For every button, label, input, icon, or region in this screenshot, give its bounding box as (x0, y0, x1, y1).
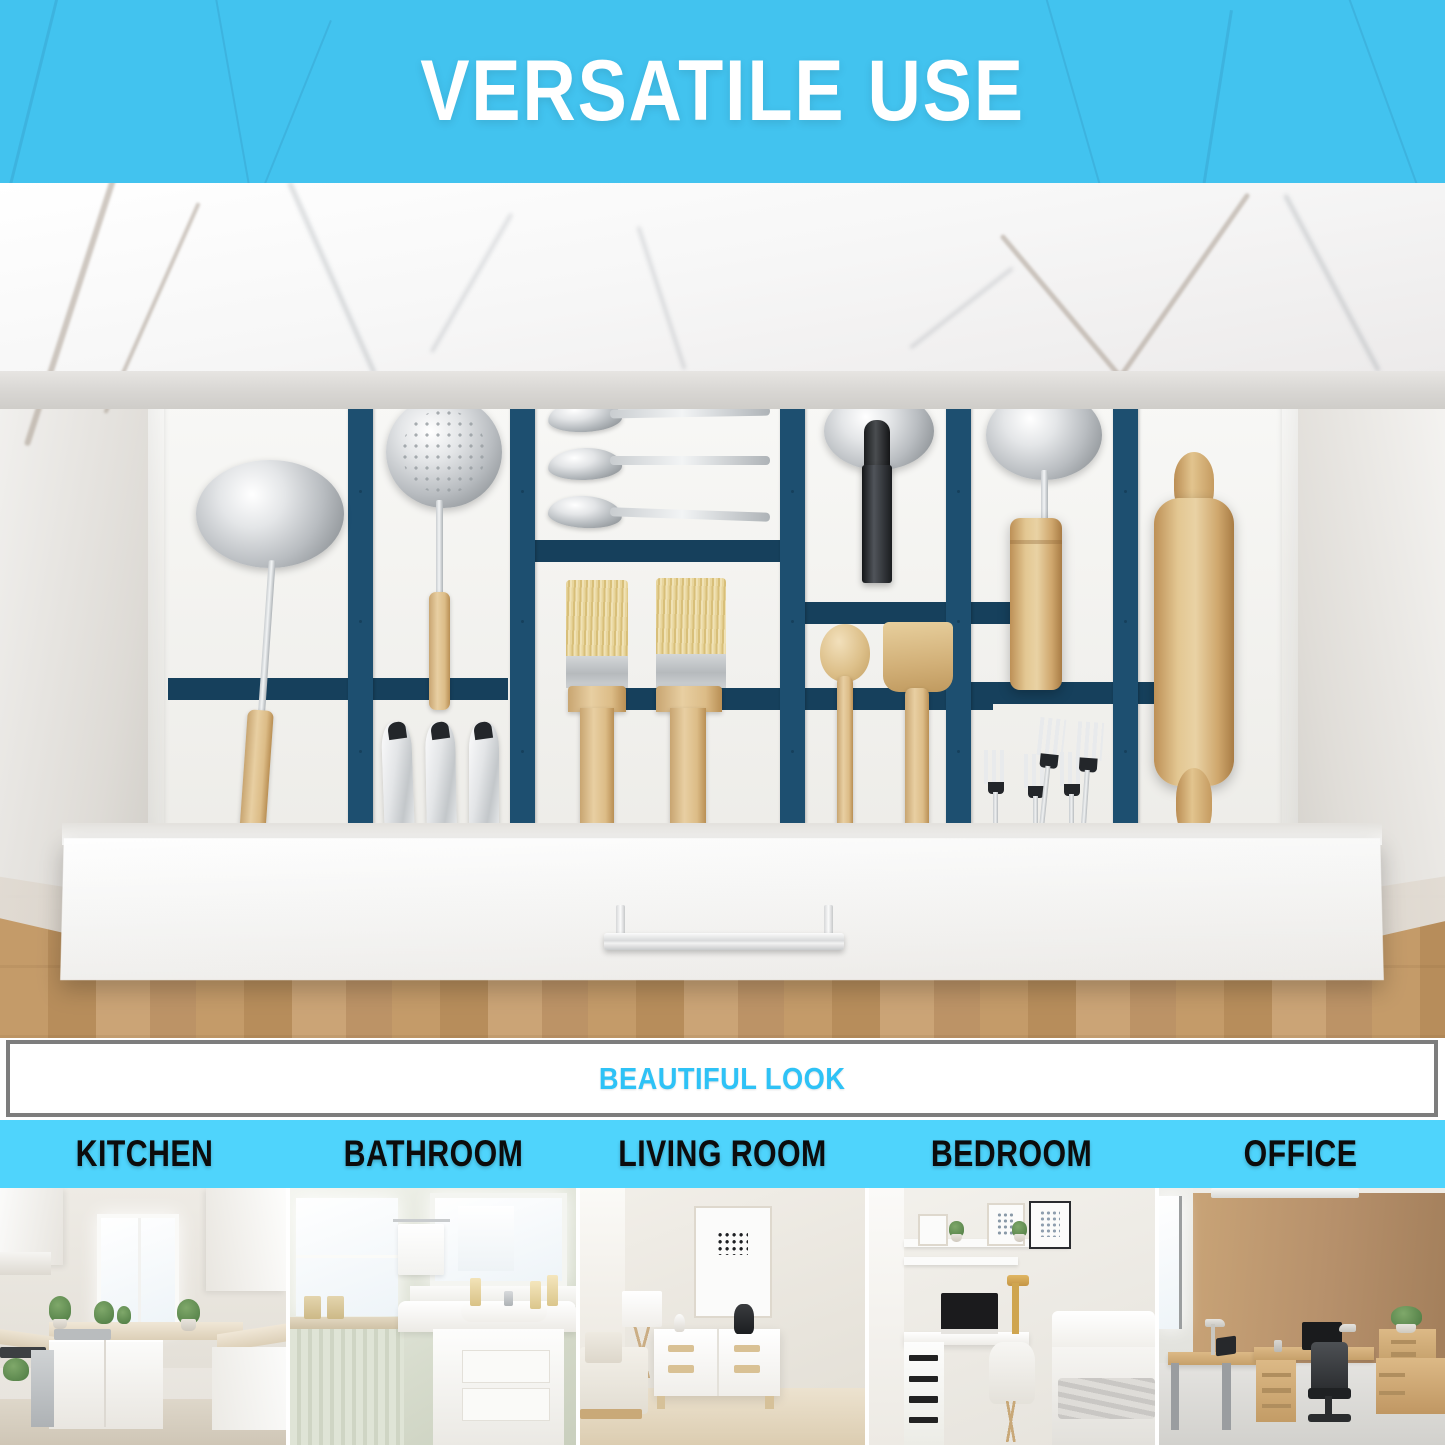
thumbnail-bedroom[interactable] (869, 1188, 1155, 1445)
wooden-spoon-handle (837, 676, 853, 842)
plant-pot (181, 1319, 195, 1331)
pastry-brush-ferrule (656, 654, 726, 688)
pastry-brush-handle (670, 708, 706, 842)
curtain (869, 1188, 903, 1445)
drawer-pull (1379, 1391, 1405, 1395)
divider-vertical[interactable] (510, 370, 535, 857)
room-label-bar: KITCHEN BATHROOM LIVING ROOM BEDROOM OFF… (0, 1120, 1445, 1188)
cabinet-right-panel (1275, 355, 1445, 904)
divider-vertical[interactable] (1113, 370, 1138, 857)
vanity-drawer (462, 1388, 550, 1421)
marble-vein (4, 0, 63, 183)
pastry-brush-ferrule (566, 656, 628, 688)
dresser-leg (657, 1396, 666, 1409)
drawer-pull (1391, 1340, 1417, 1344)
pastry-brush-bristles (656, 578, 726, 656)
thumbnail-bathroom[interactable] (290, 1188, 576, 1445)
marble-vein (1283, 194, 1380, 372)
divider-vertical[interactable] (780, 370, 805, 857)
lid-handle (862, 465, 892, 583)
chair-legs (995, 1401, 1026, 1442)
drawer-organizer-hero-photo (0, 183, 1445, 1038)
desk-chair (989, 1342, 1035, 1404)
monitor-screen (941, 1293, 998, 1332)
kitchen-upper-cabinet-right (206, 1188, 286, 1291)
kitchen-range-hood (0, 1252, 51, 1275)
thumbnail-office[interactable] (1159, 1188, 1445, 1445)
skimmer-wood-handle (429, 592, 450, 710)
bathroom-faucet (504, 1291, 513, 1306)
dresser-handle (734, 1365, 760, 1373)
vanity-drawer (462, 1350, 550, 1383)
pastry-brush-bristles (566, 580, 628, 658)
handle-post-right (824, 905, 833, 935)
cabinet-seam (104, 1340, 106, 1427)
skimmer-holes (402, 410, 486, 494)
wooden-spatula-head (883, 622, 953, 692)
roller-ring (1010, 540, 1062, 544)
drawer-pull (909, 1376, 938, 1382)
kitchen-cabinets-right (212, 1347, 286, 1429)
countertop-edge (0, 371, 1445, 409)
ceiling-light-panel (1211, 1188, 1360, 1198)
marble-vein (430, 213, 513, 353)
desk-lamp-shade (1339, 1324, 1356, 1332)
drawer-pull (1262, 1404, 1291, 1408)
thumbnail-living-room[interactable] (580, 1188, 866, 1445)
knife-tip (387, 721, 407, 740)
sofa-base (580, 1409, 643, 1419)
drawer-pull (1379, 1373, 1405, 1377)
drawer-pull (1262, 1373, 1291, 1377)
plant-pot (1014, 1234, 1025, 1242)
kitchen-sink (54, 1329, 111, 1339)
window-mullion (296, 1255, 399, 1258)
divider-vertical[interactable] (946, 370, 971, 857)
soap-bottle (470, 1278, 481, 1306)
handle-post-left (616, 905, 625, 935)
room-label-bedroom: BEDROOM (893, 1120, 1130, 1188)
kitchen-plant (94, 1301, 114, 1324)
drawer-pull (909, 1396, 938, 1402)
kitchen-plant (3, 1358, 29, 1381)
room-label-bathroom: BATHROOM (315, 1120, 552, 1188)
soap-bottle (547, 1275, 558, 1306)
serving-spoon-handle (610, 456, 770, 465)
beautiful-look-text: BEAUTIFUL LOOK (599, 1061, 846, 1097)
desk-lamp-arm (1012, 1283, 1019, 1334)
product-marketing-image: VERSATILE USE (0, 0, 1445, 1445)
cabinet-left-panel (0, 355, 165, 903)
drawer-handle[interactable] (604, 933, 844, 950)
marble-vein (1345, 0, 1419, 183)
marble-vein (287, 183, 376, 375)
office-chair-back (1311, 1342, 1348, 1391)
pastry-brush-handle (580, 708, 614, 842)
versatile-use-banner: VERSATILE USE (0, 0, 1445, 183)
cup (327, 1296, 344, 1319)
room-thumbnail-row (0, 1188, 1445, 1445)
kitchen-plant (117, 1306, 131, 1324)
dresser-seam (717, 1329, 719, 1396)
marble-countertop (0, 183, 1445, 378)
pillow (1052, 1311, 1155, 1352)
office-window (1159, 1196, 1182, 1330)
soap-bottle (530, 1281, 541, 1309)
desk-leg (1222, 1363, 1231, 1430)
marble-vein (637, 226, 686, 370)
divider-horizontal[interactable] (168, 678, 508, 700)
lid-knob (864, 420, 890, 470)
towel-bar (393, 1219, 450, 1222)
plant-pot (53, 1319, 67, 1329)
cup (304, 1296, 321, 1319)
chair-base (1308, 1414, 1351, 1422)
hanging-towel (398, 1224, 444, 1275)
divider-vertical[interactable] (348, 370, 373, 857)
drawer-interior (148, 370, 1298, 857)
knife-tip (473, 721, 493, 740)
thumbnail-kitchen[interactable] (0, 1188, 286, 1445)
drawer-front-panel[interactable] (60, 838, 1384, 980)
file-cabinet-lower (1376, 1358, 1445, 1415)
drawer-pull (909, 1417, 938, 1423)
framed-art (1029, 1201, 1070, 1249)
bathroom-wainscot (290, 1329, 404, 1445)
room-label-office: OFFICE (1182, 1120, 1419, 1188)
room-label-living-room: LIVING ROOM (604, 1120, 841, 1188)
wooden-spoon-bowl (820, 624, 870, 682)
knife-tip (430, 721, 450, 740)
drawer-pull (909, 1355, 938, 1361)
dresser-handle (668, 1365, 694, 1373)
banner-title: VERSATILE USE (101, 0, 1344, 183)
floor-lamp-shade (622, 1291, 662, 1327)
wooden-spatula-handle (905, 688, 929, 842)
dresser-handle (668, 1345, 694, 1353)
bathroom-mirror (430, 1193, 567, 1286)
dresser-leg (765, 1396, 774, 1409)
divider-horizontal[interactable] (526, 540, 784, 562)
marble-vein (1114, 192, 1250, 383)
wall-art-frame (694, 1206, 772, 1318)
framed-photo (918, 1214, 948, 1246)
bed-throw-blanket (1058, 1378, 1155, 1419)
desk-leg (1171, 1363, 1180, 1430)
desk-lamp-arm (1211, 1324, 1216, 1355)
ladle-bowl (196, 460, 344, 568)
laptop-screen (1216, 1336, 1236, 1357)
pen-cup (1274, 1340, 1283, 1353)
dresser-handle (734, 1345, 760, 1353)
kitchen-oven (31, 1350, 54, 1427)
wall-shelf-lower (904, 1257, 1018, 1265)
drawer-pull (1262, 1388, 1291, 1392)
drawer-pull (1391, 1352, 1417, 1356)
plant-pot (1396, 1324, 1416, 1333)
room-label-kitchen: KITCHEN (26, 1120, 263, 1188)
kitchen-plant (49, 1296, 72, 1322)
marble-vein (1000, 234, 1126, 383)
bathroom-vanity (433, 1329, 564, 1445)
black-vase (734, 1304, 754, 1335)
marble-vein (909, 267, 1013, 349)
sofa-cushion (585, 1332, 622, 1363)
monitor-stand (941, 1329, 998, 1334)
rolling-pin-body (1154, 498, 1234, 786)
beautiful-look-box: BEAUTIFUL LOOK (6, 1040, 1438, 1117)
white-vase (674, 1314, 685, 1332)
